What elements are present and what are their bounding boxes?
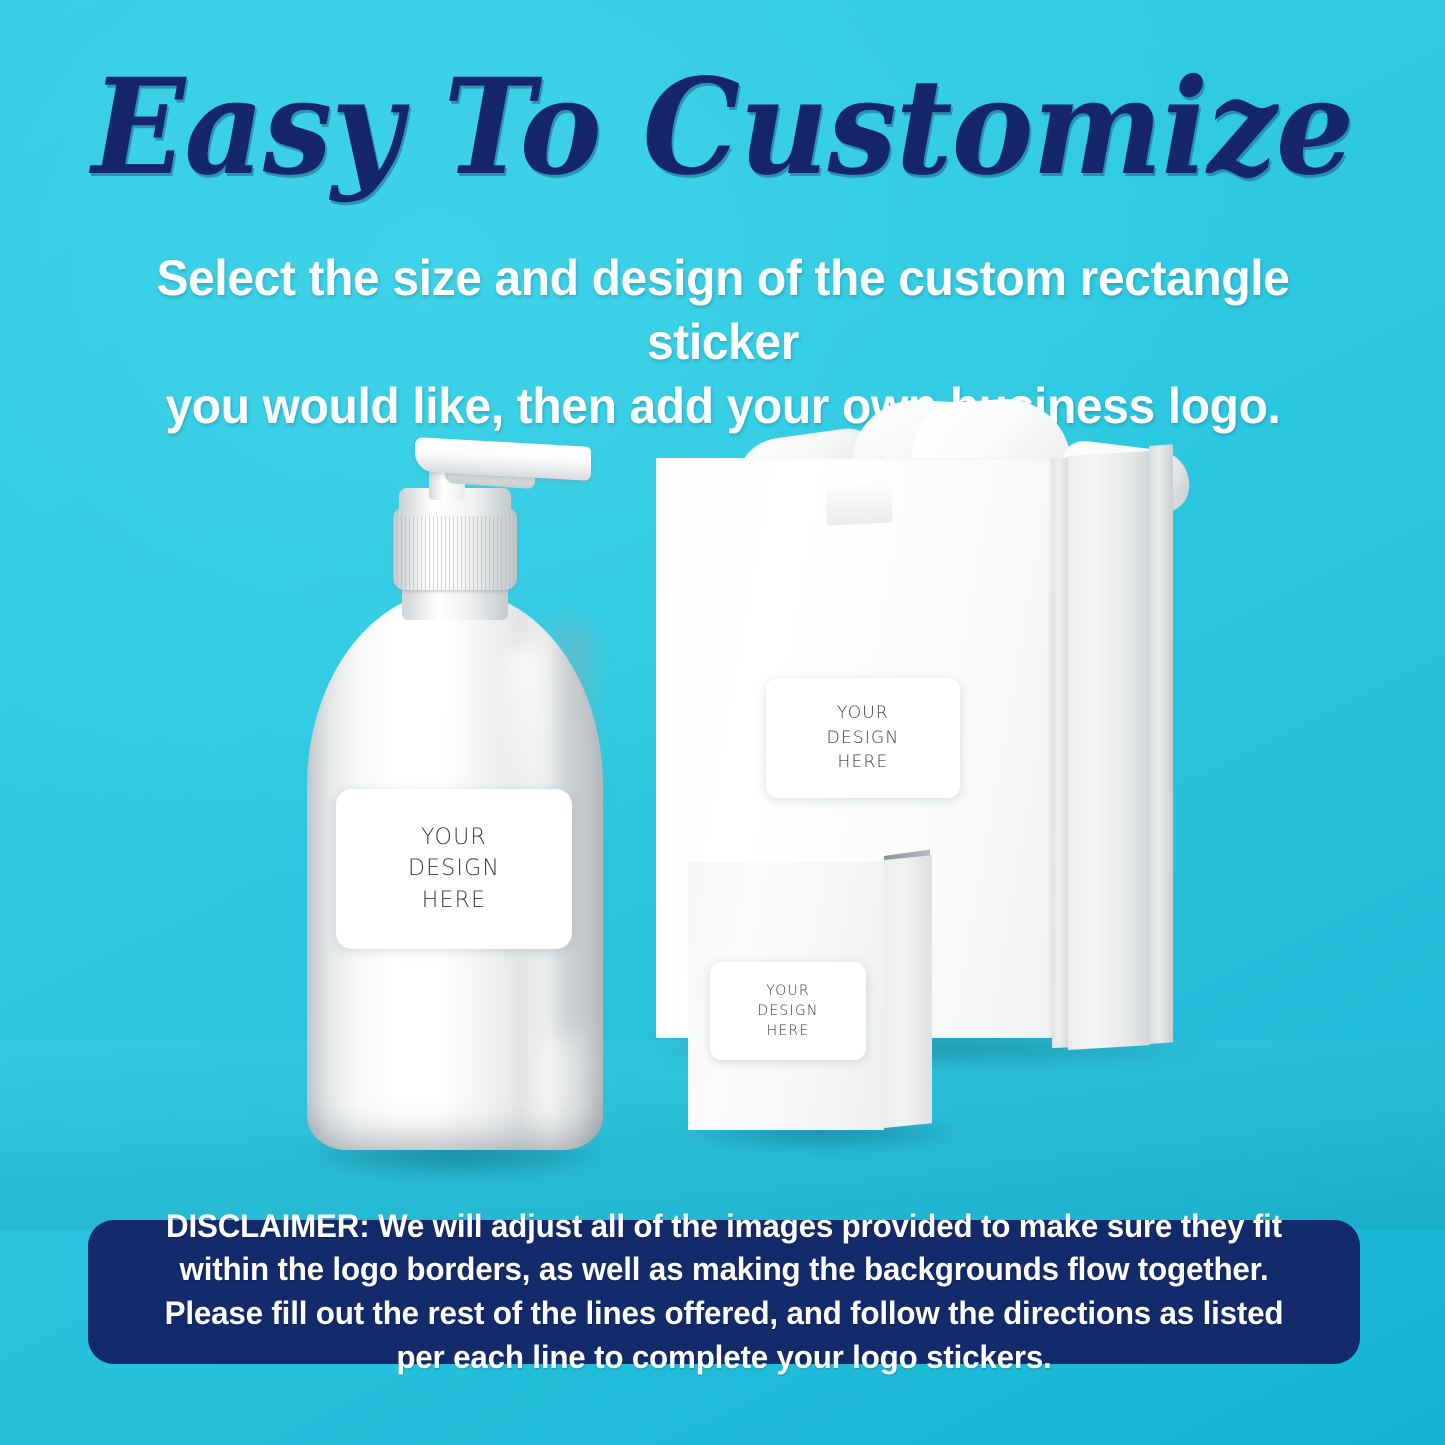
sticker-line-3: HERE — [422, 885, 486, 916]
subtitle-line-1: Select the size and design of the custom… — [104, 246, 1342, 374]
giftbox-side-panel-outer — [1149, 444, 1173, 1044]
giftbox-side-panel — [1068, 451, 1150, 1050]
bottle-ribbed-collar — [393, 508, 517, 590]
disclaimer-banner: DISCLAIMER: We will adjust all of the im… — [88, 1220, 1360, 1364]
giftbox-lid-edge — [1052, 457, 1068, 1048]
sticker-label-smallbox[interactable]: YOUR DESIGN HERE — [710, 962, 866, 1060]
sticker-line-1: YOUR — [837, 701, 889, 726]
sticker-line-2: DESIGN — [408, 853, 500, 884]
sticker-line-1: YOUR — [766, 981, 810, 1001]
sticker-line-1: YOUR — [421, 822, 487, 853]
promo-graphic: Easy To Customize Select the size and de… — [0, 0, 1445, 1445]
sticker-line-3: HERE — [767, 1021, 810, 1041]
smallbox-side-panel — [884, 855, 932, 1128]
sticker-label-bottle[interactable]: YOUR DESIGN HERE — [336, 789, 572, 949]
sticker-line-2: DESIGN — [757, 1001, 818, 1021]
sticker-line-3: HERE — [838, 750, 889, 775]
disclaimer-label: DISCLAIMER: — [166, 1208, 369, 1244]
page-title: Easy To Customize — [51, 62, 1395, 194]
disclaimer-text: DISCLAIMER: We will adjust all of the im… — [137, 1205, 1310, 1379]
sticker-line-2: DESIGN — [827, 726, 900, 751]
sticker-label-giftbox[interactable]: YOUR DESIGN HERE — [766, 678, 960, 798]
ribbon-strap-front — [825, 482, 893, 525]
